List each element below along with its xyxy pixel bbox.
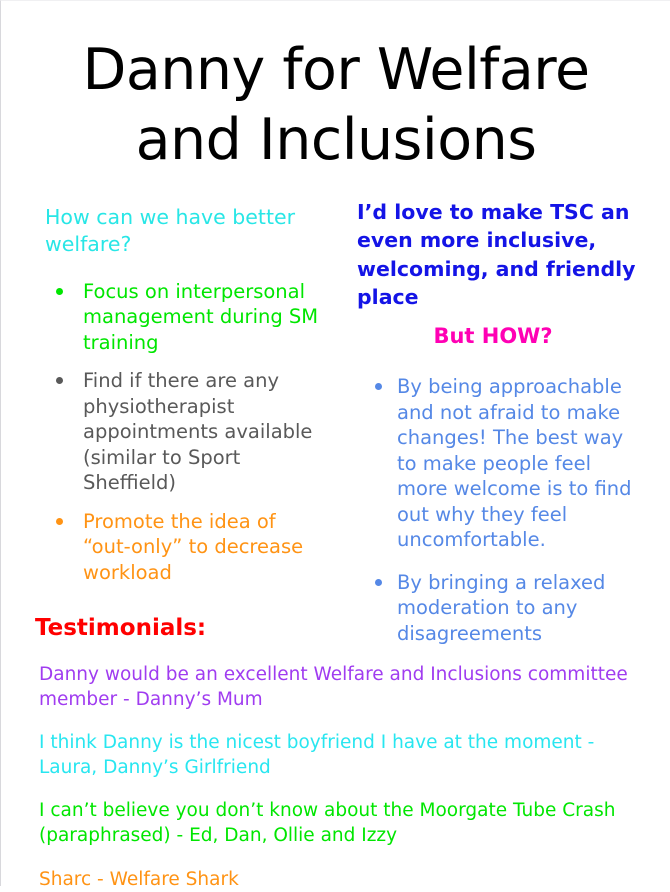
bullet-text: Focus on interpersonal management during… [83, 280, 318, 354]
left-column-heading: How can we have better welfare? [45, 204, 327, 259]
slide-canvas: Danny for Welfare and Inclusions How can… [0, 0, 670, 886]
testimonials-heading: Testimonials: [35, 615, 645, 641]
right-column-heading: I’d love to make TSC an even more inclus… [357, 198, 645, 311]
list-item: Find if there are any physiotherapist ap… [45, 368, 327, 496]
testimonial-item: I think Danny is the nicest boyfriend I … [35, 731, 645, 780]
bullet-text: By being approachable and not afraid to … [397, 375, 632, 551]
testimonials-section: Testimonials: Danny would be an excellen… [35, 615, 645, 892]
testimonial-item: Danny would be an excellent Welfare and … [35, 663, 645, 712]
bullet-text: Find if there are any physiotherapist ap… [83, 369, 312, 494]
page-title-line-1: Danny for Welfare [1, 35, 670, 105]
list-item: By being approachable and not afraid to … [357, 374, 645, 553]
left-column: How can we have better welfare? Focus on… [45, 204, 327, 598]
right-column-bullet-list: By being approachable and not afraid to … [357, 374, 645, 646]
list-item: Focus on interpersonal management during… [45, 279, 327, 356]
list-item: Promote the idea of “out-only” to decrea… [45, 509, 327, 586]
testimonial-item: Sharc - Welfare Shark [35, 868, 645, 892]
page-title-line-2: and Inclusions [1, 105, 670, 175]
page-title: Danny for Welfare and Inclusions [1, 35, 670, 175]
right-column: I’d love to make TSC an even more inclus… [357, 198, 645, 663]
bullet-text: Promote the idea of “out-only” to decrea… [83, 510, 303, 584]
right-column-subheading: But HOW? [357, 324, 645, 348]
left-column-bullet-list: Focus on interpersonal management during… [45, 279, 327, 586]
testimonial-item: I can’t believe you don’t know about the… [35, 799, 645, 848]
